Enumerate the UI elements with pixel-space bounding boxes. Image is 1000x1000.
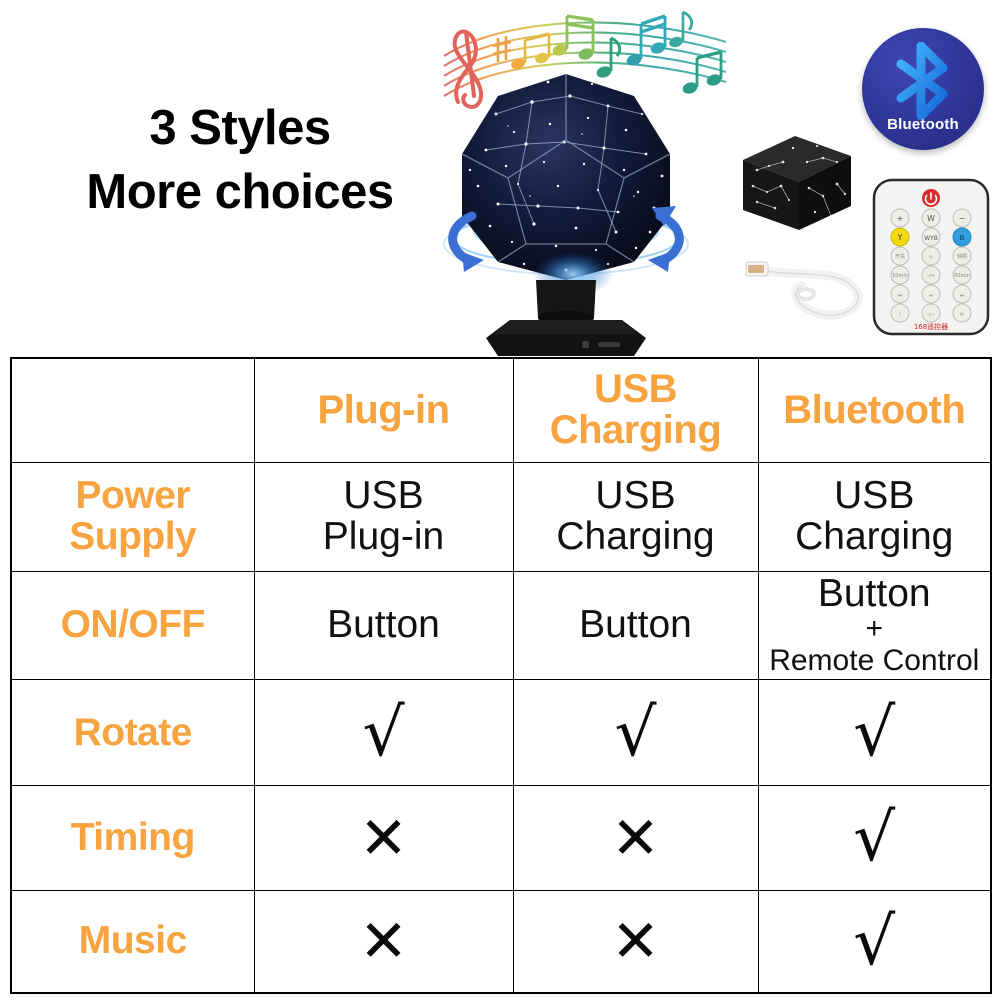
svg-text:◁−: ◁− — [927, 312, 935, 318]
svg-text:10min: 10min — [892, 273, 908, 279]
svg-text:开关: 开关 — [895, 253, 905, 260]
column-header-bluetooth: Bluetooth — [758, 358, 991, 462]
svg-text:WYB: WYB — [924, 235, 938, 242]
row-header-timing: Timing — [11, 786, 254, 891]
svg-text:映照: 映照 — [957, 253, 967, 260]
cell-timing-bluetooth: √ — [758, 786, 991, 891]
cell-timing-plug-in: ✕ — [254, 786, 513, 891]
comparison-table: Plug-in USB Charging Bluetooth Power Sup… — [10, 357, 992, 994]
cell-music-bluetooth: √ — [758, 891, 991, 993]
svg-text:⏮: ⏮ — [898, 293, 903, 299]
cell-rotate-plug-in: √ — [254, 680, 513, 786]
ir-remote-control: +W− Y WYB B 开关↻映照 10min◁+60min ⏮⏯⏭ ♪◁−⟳ … — [872, 178, 990, 336]
headline-line-1: 3 Styles — [50, 103, 430, 155]
headline-line-2: More choices — [50, 167, 430, 219]
check-icon: √ — [362, 705, 404, 761]
table-row: Music ✕ ✕ √ — [11, 891, 991, 993]
table-row: Power Supply USB Plug-in USB Charging US… — [11, 462, 991, 571]
hero-section: 3 Styles More choices — [0, 0, 1000, 357]
svg-text:Y: Y — [897, 233, 903, 242]
infographic-page: 3 Styles More choices — [0, 0, 1000, 1000]
star-projector-lamp — [438, 66, 694, 358]
table-corner-cell — [11, 358, 254, 462]
table-row: Rotate √ √ √ — [11, 680, 991, 786]
row-header-on-off: ON/OFF — [11, 571, 254, 680]
cell-on-off-usb-charging: Button — [513, 571, 758, 680]
svg-text:♪: ♪ — [898, 312, 901, 318]
bluetooth-badge: Bluetooth — [862, 28, 984, 150]
svg-text:B: B — [960, 234, 965, 242]
constellation-gift-box — [733, 126, 861, 240]
svg-text:⏯: ⏯ — [929, 293, 933, 299]
svg-text:W: W — [927, 214, 935, 223]
row-header-rotate: Rotate — [11, 680, 254, 786]
cell-rotate-bluetooth: √ — [758, 680, 991, 786]
svg-text:⏭: ⏭ — [960, 293, 965, 299]
svg-text:+: + — [897, 214, 904, 223]
cell-on-off-plug-in: Button — [254, 571, 513, 680]
cross-icon: ✕ — [611, 814, 660, 863]
svg-text:◁+: ◁+ — [927, 273, 935, 279]
cell-rotate-usb-charging: √ — [513, 680, 758, 786]
cell-music-usb-charging: ✕ — [513, 891, 758, 993]
table-row: ON/OFF Button Button Button + Remote Con… — [11, 571, 991, 680]
cell-power-supply-usb-charging: USB Charging — [513, 462, 758, 571]
page-title: 3 Styles More choices — [50, 103, 430, 219]
column-header-plug-in: Plug-in — [254, 358, 513, 462]
check-icon: √ — [853, 810, 895, 866]
table-header-row: Plug-in USB Charging Bluetooth — [11, 358, 991, 462]
cell-power-supply-bluetooth: USB Charging — [758, 462, 991, 571]
svg-text:↻: ↻ — [929, 255, 933, 261]
column-header-usb-charging: USB Charging — [513, 358, 758, 462]
row-header-power-supply: Power Supply — [11, 462, 254, 571]
remote-model-label: 168遥控器 — [914, 322, 948, 331]
bluetooth-icon — [891, 42, 955, 120]
svg-text:60min: 60min — [954, 273, 970, 279]
cross-icon: ✕ — [611, 917, 660, 966]
cell-music-plug-in: ✕ — [254, 891, 513, 993]
bluetooth-badge-label: Bluetooth — [862, 116, 984, 133]
cell-on-off-bluetooth: Button + Remote Control — [758, 571, 991, 680]
cross-icon: ✕ — [359, 917, 408, 966]
check-icon: √ — [853, 914, 895, 970]
check-icon: √ — [614, 705, 656, 761]
table-row: Timing ✕ ✕ √ — [11, 786, 991, 891]
row-header-music: Music — [11, 891, 254, 993]
cell-timing-usb-charging: ✕ — [513, 786, 758, 891]
cross-icon: ✕ — [359, 814, 408, 863]
cell-power-supply-plug-in: USB Plug-in — [254, 462, 513, 571]
check-icon: √ — [853, 705, 895, 761]
usb-cable — [740, 248, 876, 328]
svg-text:−: − — [959, 214, 966, 223]
